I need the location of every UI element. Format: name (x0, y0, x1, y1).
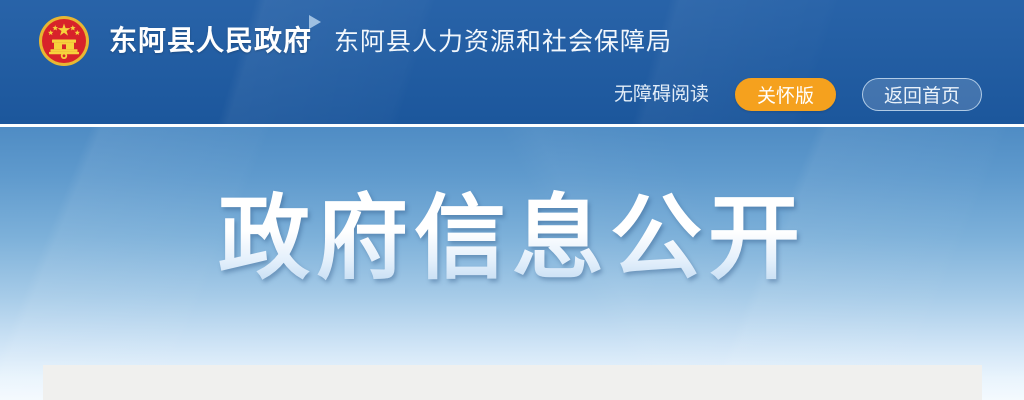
site-title: 东阿县人民政府 (109, 24, 312, 58)
triangle-right-icon (309, 15, 321, 29)
content-panel (43, 365, 982, 400)
page-title: 政府信息公开 (0, 189, 1024, 289)
accessible-reading-link[interactable]: 无障碍阅读 (614, 85, 709, 104)
header-tools: 无障碍阅读 关怀版 返回首页 (614, 77, 982, 111)
hero-banner: 政府信息公开 (0, 127, 1024, 400)
care-version-button[interactable]: 关怀版 (735, 78, 836, 111)
department-title: 东阿县人力资源和社会保障局 (334, 26, 672, 58)
back-home-button[interactable]: 返回首页 (862, 78, 982, 111)
site-header: 东阿县人民政府 东阿县人力资源和社会保障局 无障碍阅读 关怀版 返回首页 (0, 0, 1024, 127)
china-national-emblem-icon (36, 13, 92, 69)
page-root: 东阿县人民政府 东阿县人力资源和社会保障局 无障碍阅读 关怀版 返回首页 政府信… (0, 0, 1024, 400)
